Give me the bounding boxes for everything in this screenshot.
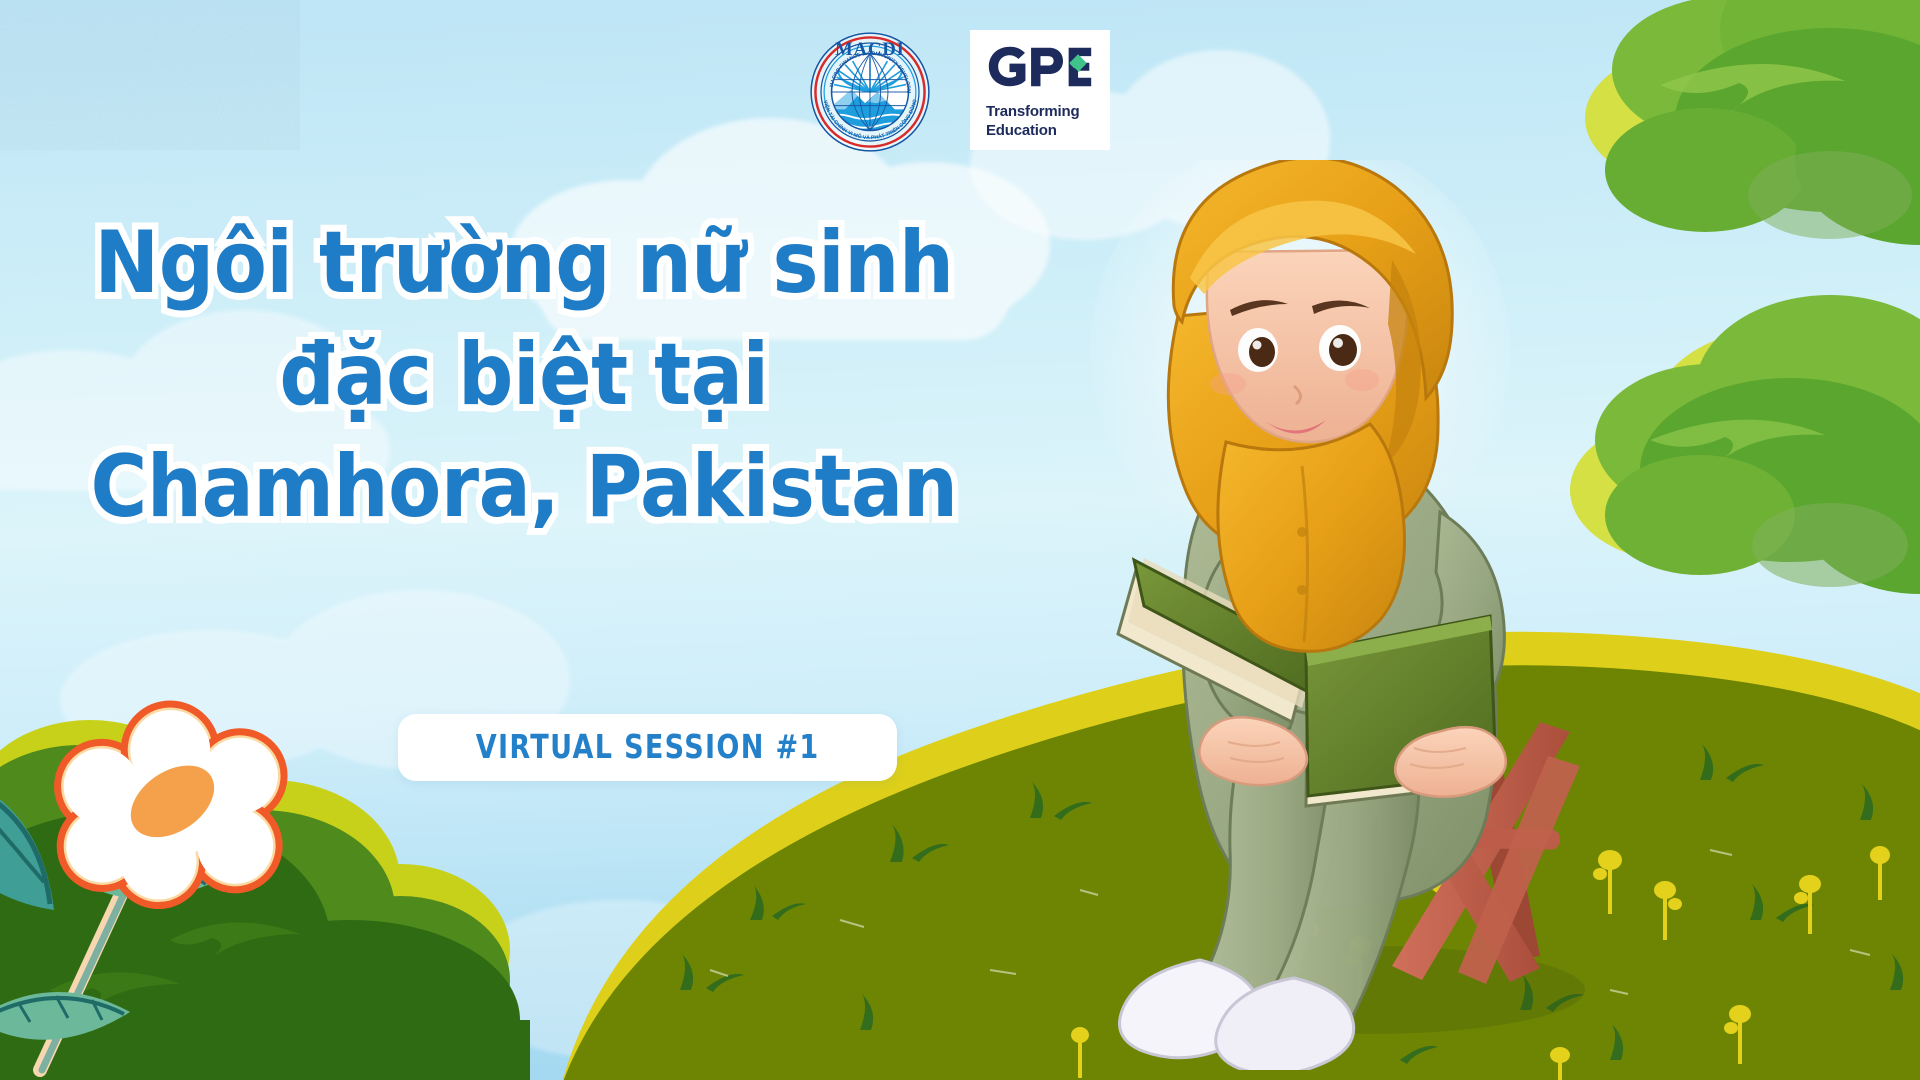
logo-row: MACDI MACRO-FINANCE & COMMUNITY DEVELOPM… [808, 30, 1110, 154]
leaf-large [0, 770, 54, 910]
headline-line-3: Chamhora, Pakistan [52, 432, 995, 544]
paper-grain-overlay [0, 0, 300, 150]
gpe-logo: Transforming Education [970, 30, 1110, 150]
flower-blossom [29, 690, 313, 935]
session-badge-label: VIRTUAL SESSION #1 [476, 727, 820, 766]
headline-line-1: Ngôi trường nữ sinh [52, 208, 995, 320]
leaf-lower [0, 992, 130, 1040]
gpe-tagline: Transforming Education [986, 103, 1096, 140]
status-badge: VIRTUAL SESSION #1 [398, 714, 897, 781]
white-daisy-flower [0, 690, 380, 1080]
macdi-globe-logo: MACDI MACRO-FINANCE & COMMUNITY DEVELOPM… [808, 30, 932, 154]
headline-line-2: đặc biệt tại [52, 320, 995, 432]
gpe-wordmark [986, 43, 1094, 90]
girl-reading-book [1040, 160, 1720, 1070]
page-title: Ngôi trường nữ sinh đặc biệt tại Chamhor… [0, 208, 1048, 543]
poster-canvas: Ngôi trường nữ sinh đặc biệt tại Chamhor… [0, 0, 1920, 1080]
hijab-chest [1218, 424, 1405, 651]
